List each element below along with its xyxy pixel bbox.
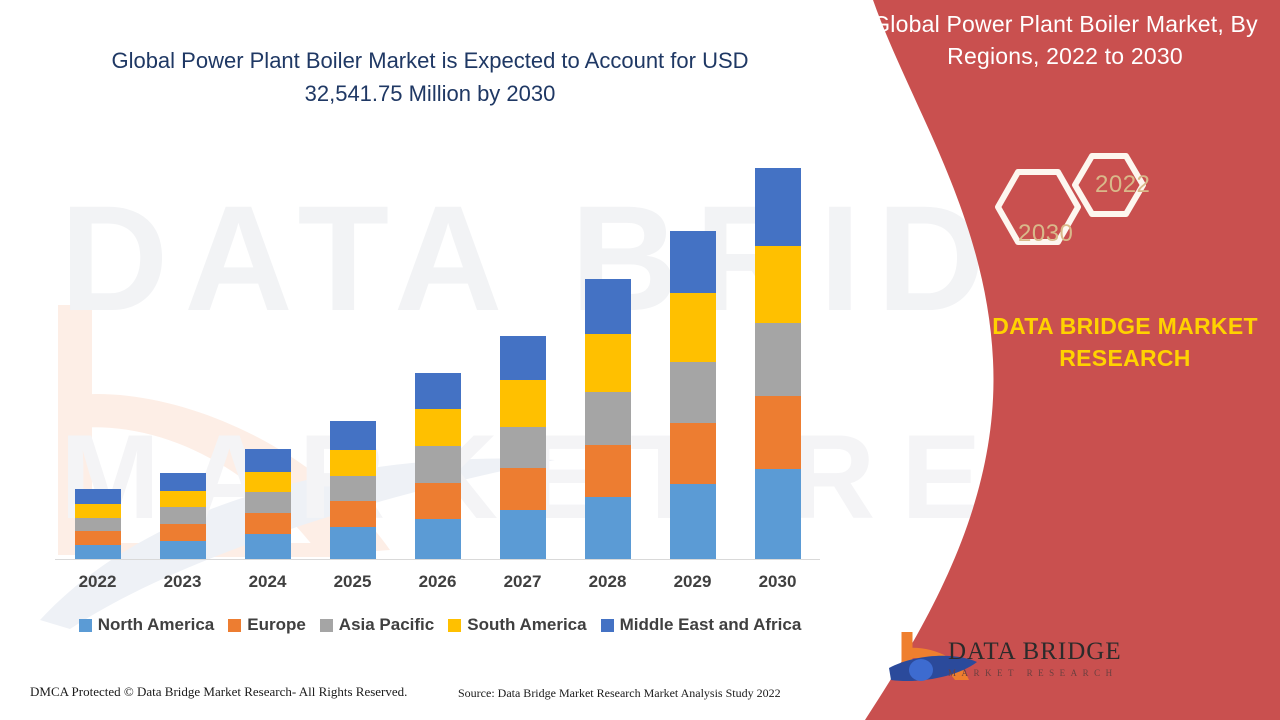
bar-segment xyxy=(500,510,546,559)
bar-segment xyxy=(500,380,546,428)
chart-plot-area xyxy=(55,150,820,560)
bar-segment xyxy=(670,362,716,423)
bar-segment xyxy=(755,246,801,324)
logo-sub-text: MARKET RESEARCH xyxy=(948,667,1122,679)
bar-segment xyxy=(415,409,461,446)
legend-swatch-icon xyxy=(228,619,241,632)
legend-label: South America xyxy=(467,615,586,635)
bar-group xyxy=(75,489,121,559)
x-axis-tick-label: 2022 xyxy=(63,572,133,592)
bar-group xyxy=(755,168,801,559)
bar-segment xyxy=(75,545,121,559)
hexagon-badges xyxy=(980,150,1180,280)
logo-main-text: DATA BRIDGE xyxy=(948,638,1122,665)
bar-group xyxy=(245,449,291,559)
legend-swatch-icon xyxy=(320,619,333,632)
bar-segment xyxy=(330,527,376,559)
bar-segment xyxy=(160,491,206,507)
bar-segment xyxy=(755,469,801,559)
bar-segment xyxy=(670,293,716,362)
bar-segment xyxy=(500,336,546,379)
bar-segment xyxy=(245,492,291,512)
legend-item[interactable]: Middle East and Africa xyxy=(601,615,802,635)
bar-segment xyxy=(670,484,716,559)
legend-swatch-icon xyxy=(601,619,614,632)
bar-segment xyxy=(415,483,461,518)
legend-label: Middle East and Africa xyxy=(620,615,802,635)
x-axis-tick-label: 2023 xyxy=(148,572,218,592)
x-axis-labels: 202220232024202520262027202820292030 xyxy=(55,572,820,600)
legend-swatch-icon xyxy=(79,619,92,632)
bar-group xyxy=(160,473,206,559)
x-axis-tick-label: 2026 xyxy=(403,572,473,592)
hexagon-2022-label: 2022 xyxy=(1095,171,1150,199)
footer-source: Source: Data Bridge Market Research Mark… xyxy=(458,686,781,701)
bar-segment xyxy=(245,513,291,535)
x-axis-tick-label: 2025 xyxy=(318,572,388,592)
bar-group xyxy=(585,279,631,559)
x-axis-tick-label: 2028 xyxy=(573,572,643,592)
hexagon-2030-label: 2030 xyxy=(1018,220,1073,248)
legend-swatch-icon xyxy=(448,619,461,632)
bar-segment xyxy=(75,489,121,504)
brand-name: DATA BRIDGE MARKET RESEARCH xyxy=(930,310,1280,374)
x-axis-tick-label: 2027 xyxy=(488,572,558,592)
bar-segment xyxy=(245,534,291,559)
bar-segment xyxy=(330,476,376,501)
legend-label: North America xyxy=(98,615,215,635)
bar-segment xyxy=(245,449,291,472)
bar-segment xyxy=(330,421,376,450)
chart-legend: North AmericaEuropeAsia PacificSouth Ame… xyxy=(55,615,825,635)
data-bridge-logo-text: DATA BRIDGE MARKET RESEARCH xyxy=(948,638,1122,679)
panel-title: Global Power Plant Boiler Market, By Reg… xyxy=(860,8,1270,72)
bar-segment xyxy=(75,504,121,518)
bar-segment xyxy=(500,427,546,468)
bar-segment xyxy=(160,507,206,524)
x-axis-tick-label: 2030 xyxy=(743,572,813,592)
bar-group xyxy=(500,336,546,559)
bar-segment xyxy=(415,446,461,483)
legend-item[interactable]: Europe xyxy=(228,615,306,635)
legend-item[interactable]: Asia Pacific xyxy=(320,615,434,635)
bar-segment xyxy=(670,423,716,484)
x-axis-tick-label: 2024 xyxy=(233,572,303,592)
bar-segment xyxy=(160,541,206,559)
legend-item[interactable]: North America xyxy=(79,615,215,635)
bar-segment xyxy=(585,392,631,444)
main-title: Global Power Plant Boiler Market is Expe… xyxy=(60,44,800,110)
bar-segment xyxy=(585,334,631,393)
stacked-bar-chart xyxy=(55,150,820,562)
bar-group xyxy=(415,373,461,559)
bar-segment xyxy=(75,531,121,545)
bar-segment xyxy=(585,445,631,497)
bar-segment xyxy=(330,501,376,528)
bar-segment xyxy=(415,373,461,409)
bar-segment xyxy=(755,323,801,396)
footer-copyright: DMCA Protected © Data Bridge Market Rese… xyxy=(30,684,407,700)
legend-item[interactable]: South America xyxy=(448,615,586,635)
bar-segment xyxy=(755,168,801,246)
infographic-canvas: DATA BRIDGE MARKET RESEARCH Global Power… xyxy=(0,0,1280,720)
bar-group xyxy=(330,421,376,559)
bar-segment xyxy=(755,396,801,469)
bar-segment xyxy=(160,473,206,492)
legend-label: Europe xyxy=(247,615,306,635)
bar-segment xyxy=(160,524,206,541)
bar-segment xyxy=(585,497,631,559)
bar-group xyxy=(670,231,716,559)
bar-segment xyxy=(330,450,376,475)
bar-segment xyxy=(415,519,461,559)
legend-label: Asia Pacific xyxy=(339,615,434,635)
bar-segment xyxy=(245,472,291,493)
bar-segment xyxy=(670,231,716,293)
bar-segment xyxy=(500,468,546,510)
x-axis-tick-label: 2029 xyxy=(658,572,728,592)
bar-segment xyxy=(585,279,631,334)
x-axis-line xyxy=(55,559,820,560)
bar-segment xyxy=(75,518,121,532)
